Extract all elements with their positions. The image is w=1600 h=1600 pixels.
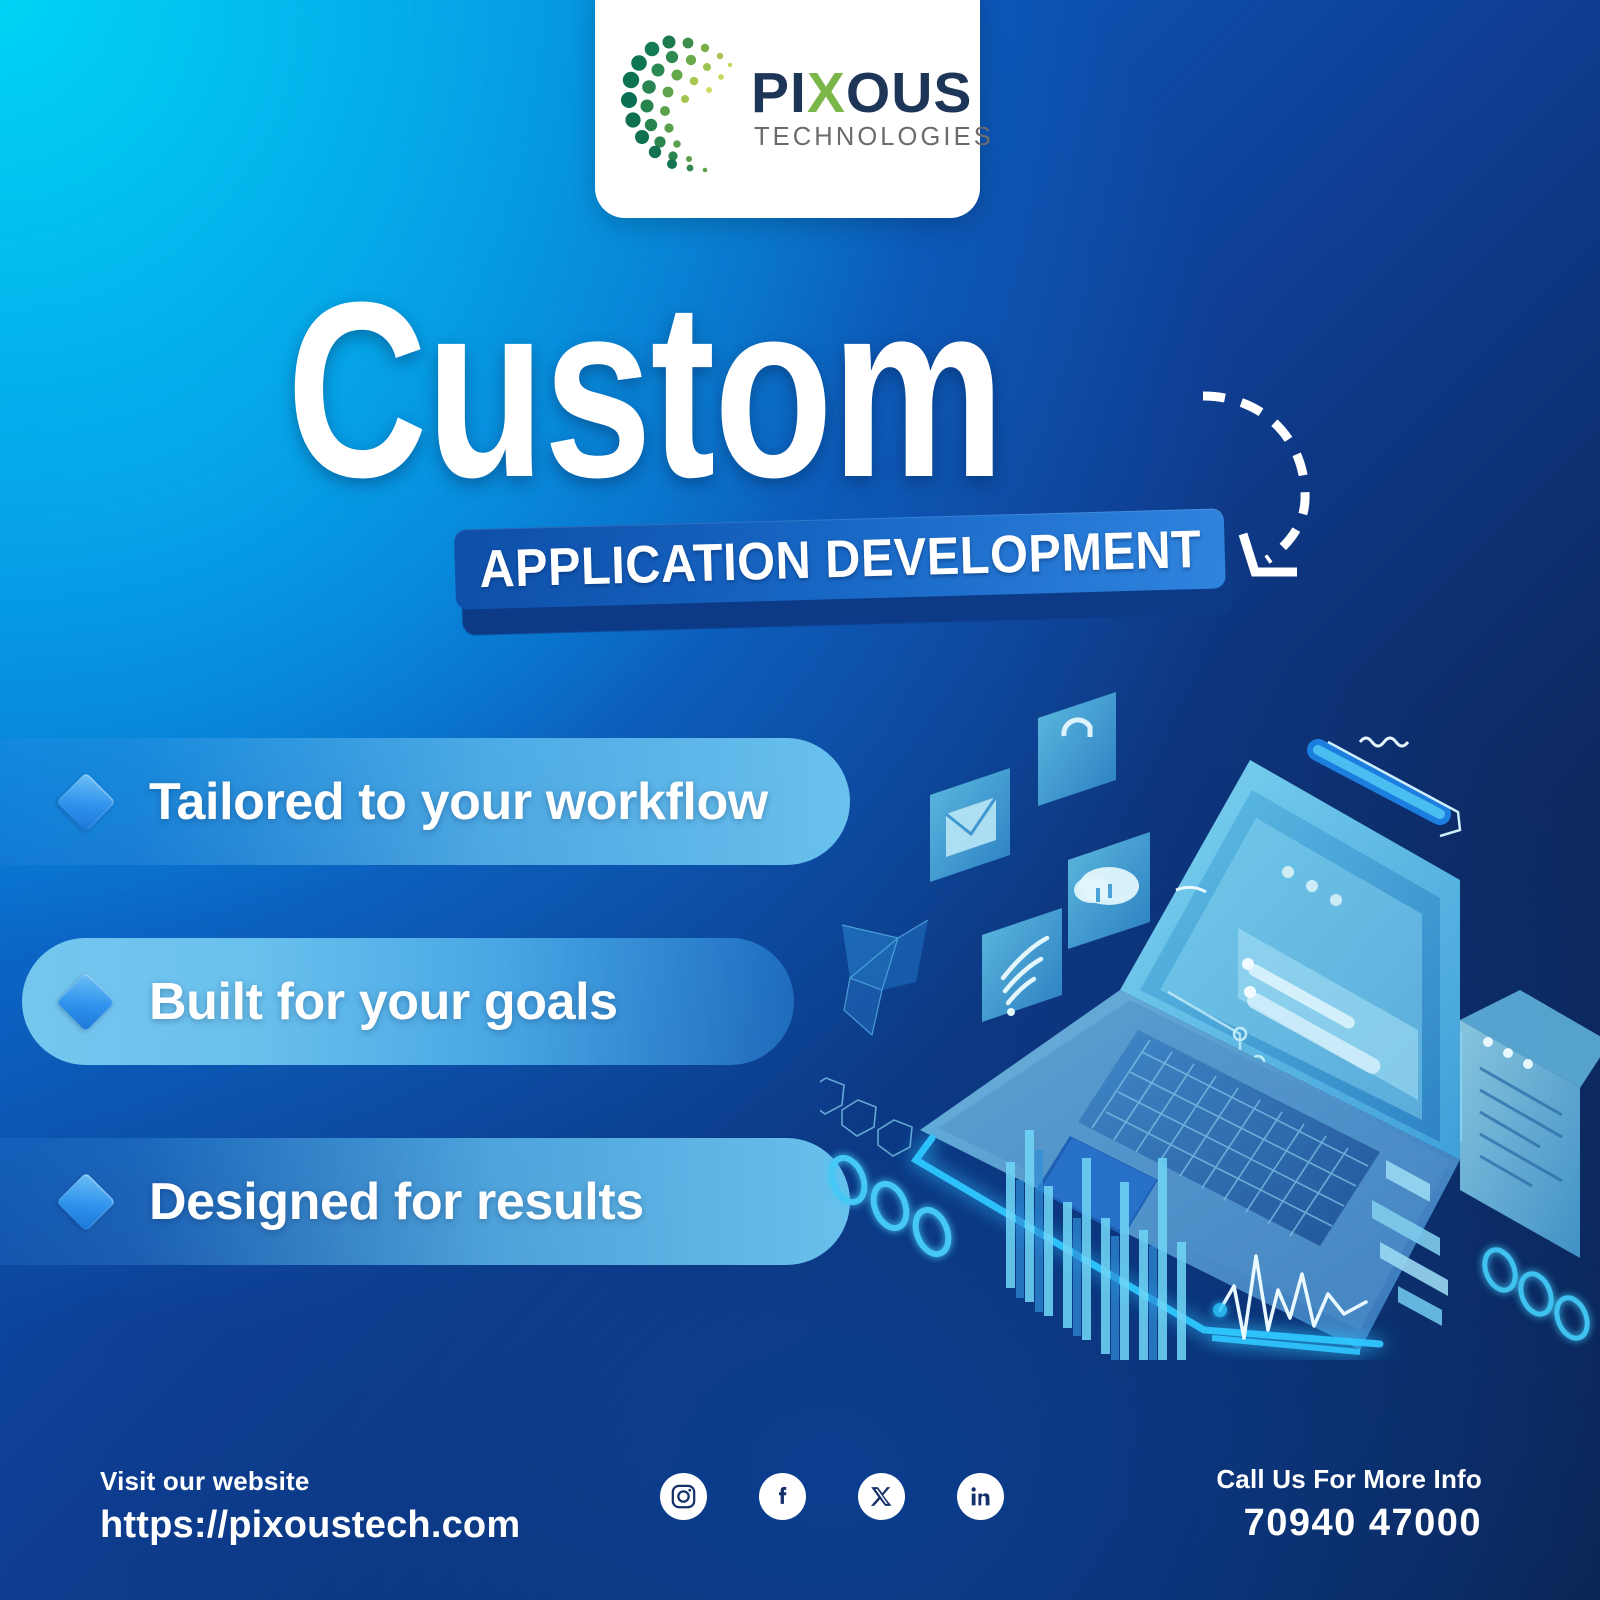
envelope-icon bbox=[930, 768, 1010, 882]
wire-hexagon-decoration bbox=[820, 1078, 912, 1156]
hero-subtitle: APPLICATION DEVELOPMENT bbox=[478, 518, 1202, 599]
hero-headline: Custom bbox=[142, 282, 1148, 497]
logo-name-pre: PI bbox=[751, 61, 807, 125]
diamond-icon bbox=[56, 772, 115, 831]
side-document-panel bbox=[1460, 990, 1600, 1258]
laptop-screen bbox=[1120, 760, 1460, 1160]
promo-poster: PIXOUS TECHNOLOGIES Custom APPLICATION D… bbox=[0, 0, 1600, 1600]
footer-contact-block: Call Us For More Info 70940 47000 bbox=[1216, 1464, 1482, 1545]
pixous-swoosh-icon bbox=[617, 32, 745, 182]
bar-chart-decoration bbox=[1006, 1130, 1186, 1360]
logo-tagline: TECHNOLOGIES bbox=[751, 123, 994, 152]
glow-ring-decoration bbox=[825, 1153, 1592, 1343]
feature-pill-3-label: Designed for results bbox=[149, 1172, 644, 1232]
phone-number[interactable]: 70940 47000 bbox=[1216, 1502, 1482, 1545]
wifi-icon bbox=[982, 908, 1062, 1022]
logo-name-accent: X bbox=[807, 61, 846, 125]
instagram-icon[interactable] bbox=[660, 1473, 707, 1520]
hero-headline-block: Custom bbox=[0, 282, 1290, 497]
footer-website-block: Visit our website https://pixoustech.com bbox=[100, 1466, 520, 1547]
linkedin-icon[interactable] bbox=[957, 1473, 1004, 1520]
logo-name-post: OUS bbox=[846, 61, 973, 125]
diamond-icon bbox=[56, 972, 115, 1031]
data-strip-decoration bbox=[1372, 1160, 1448, 1326]
social-links-row bbox=[660, 1473, 1004, 1520]
laptop-base bbox=[920, 990, 1460, 1350]
feature-pill-2[interactable]: Built for your goals bbox=[22, 938, 794, 1065]
feature-pill-1[interactable]: Tailored to your workflow bbox=[0, 738, 850, 865]
neon-glow-accent bbox=[916, 1138, 1380, 1352]
polygon-wireframe-decoration bbox=[842, 920, 928, 1035]
waveform-decoration bbox=[1213, 1256, 1366, 1338]
website-label: Visit our website bbox=[100, 1466, 520, 1497]
feature-pill-1-label: Tailored to your workflow bbox=[149, 772, 768, 832]
website-url[interactable]: https://pixoustech.com bbox=[100, 1504, 520, 1547]
cloud-upload-icon bbox=[1068, 832, 1150, 949]
feature-pill-2-label: Built for your goals bbox=[149, 972, 618, 1032]
lock-icon bbox=[1038, 690, 1116, 806]
feature-pill-3[interactable]: Designed for results bbox=[0, 1138, 850, 1265]
logo-wordmark: PIXOUS TECHNOLOGIES bbox=[751, 66, 994, 151]
isometric-laptop-illustration bbox=[820, 690, 1600, 1360]
brand-logo-card: PIXOUS TECHNOLOGIES bbox=[595, 0, 980, 218]
stylus-icon bbox=[1318, 738, 1460, 836]
x-twitter-icon[interactable] bbox=[858, 1473, 905, 1520]
call-label: Call Us For More Info bbox=[1216, 1464, 1482, 1495]
facebook-icon[interactable] bbox=[759, 1473, 806, 1520]
diamond-icon bbox=[56, 1172, 115, 1231]
ribbed-accent-bar bbox=[1420, 1008, 1462, 1142]
logo-name: PIXOUS bbox=[751, 66, 994, 120]
